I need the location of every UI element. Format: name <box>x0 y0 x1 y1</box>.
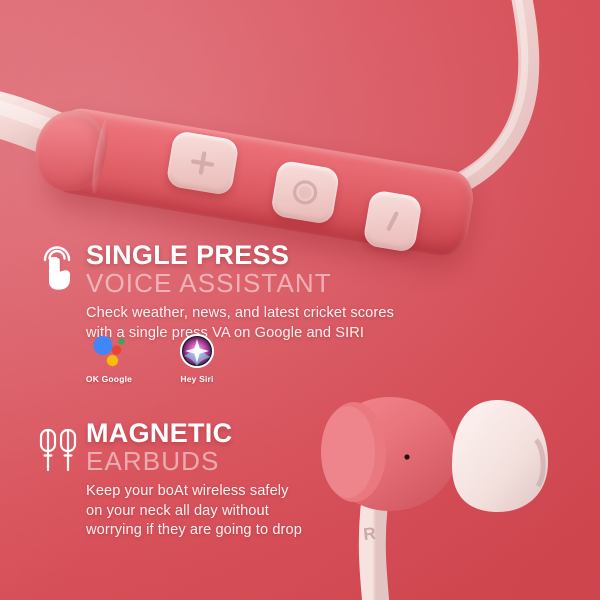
assistant-badges: OK Google Hey <box>78 332 228 384</box>
multifunction-button[interactable] <box>270 160 340 225</box>
assistant-badge-siri[interactable]: Hey Siri <box>166 332 228 384</box>
volume-up-button[interactable] <box>165 130 239 196</box>
vent-hole <box>404 454 409 459</box>
feature-subtitle: VOICE ASSISTANT <box>86 270 394 297</box>
dash-icon <box>377 204 408 238</box>
product-feature-image: R SINGLE PRESS VOICE ASSISTANT Check wea… <box>0 0 600 600</box>
assistant-label: OK Google <box>86 374 132 384</box>
feature-title: MAGNETIC <box>86 420 302 447</box>
right-earbud: R <box>312 382 600 600</box>
feature-title: SINGLE PRESS <box>86 242 394 269</box>
siri-icon <box>178 332 216 370</box>
feature-subtitle: EARBUDS <box>86 448 302 475</box>
assistant-label: Hey Siri <box>180 374 213 384</box>
assistant-badge-google[interactable]: OK Google <box>78 332 140 384</box>
earbuds-icon <box>36 428 80 474</box>
feature-text-block: SINGLE PRESS VOICE ASSISTANT Check weath… <box>86 242 394 343</box>
feature-text-block: MAGNETIC EARBUDS Keep your boAt wireless… <box>86 420 302 540</box>
plus-icon <box>185 146 220 181</box>
google-assistant-icon <box>90 332 128 370</box>
feature-magnetic-earbuds: MAGNETIC EARBUDS Keep your boAt wireless… <box>36 420 302 540</box>
tap-gesture-icon <box>36 246 80 292</box>
feature-body: Keep your boAt wireless safely on your n… <box>86 482 302 540</box>
channel-marking-r: R <box>362 524 376 544</box>
feature-single-press: SINGLE PRESS VOICE ASSISTANT Check weath… <box>36 242 394 343</box>
circle-icon <box>287 174 324 211</box>
